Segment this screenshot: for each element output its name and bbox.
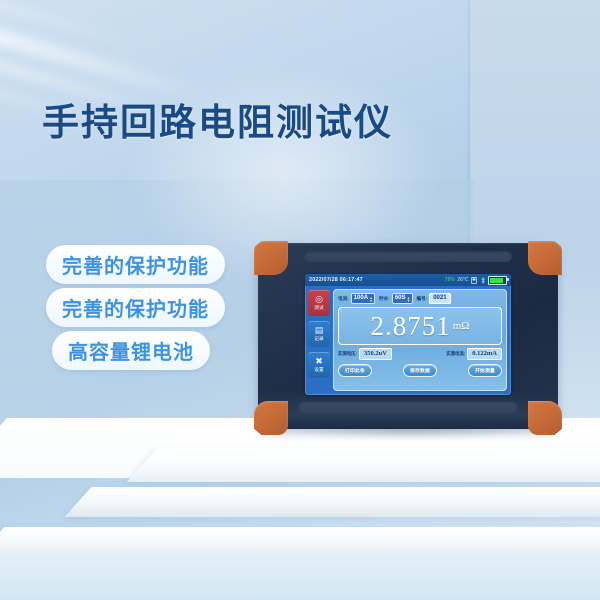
- temperature-icon: 26℃: [457, 277, 468, 283]
- clock-text: 2022/07/28 06:17:47: [309, 277, 363, 283]
- current-select[interactable]: 100A ▴▾: [351, 293, 375, 304]
- current-value: 100A: [354, 294, 368, 303]
- top-grille: [304, 251, 512, 262]
- sd-card-icon: [471, 277, 477, 284]
- reading-unit: mΩ: [453, 320, 470, 332]
- records-icon: ▤: [315, 326, 324, 335]
- chevron-updown-icon: ▴▾: [407, 296, 409, 302]
- sidebar-item-records[interactable]: ▤ 记录: [308, 321, 330, 347]
- corner-bumper-bottom-left: [254, 401, 288, 435]
- current-meas-label: 实测电流:: [446, 351, 465, 357]
- page-title: 手持回路电阻测试仪: [42, 92, 393, 146]
- voltage-label: 实测电压:: [338, 351, 357, 357]
- lcd-screen[interactable]: 2022/07/28 06:17:47 76% 26℃: [305, 274, 511, 395]
- serial-parameter: 编号: 0021: [417, 293, 451, 304]
- reading-value: 2.8751: [371, 313, 451, 340]
- lcd-content: ◎ 测试 ▤ 记录 ✖ 设置: [305, 286, 511, 395]
- voltage-value: 350.2uV: [359, 348, 392, 360]
- corner-bumper-top-left: [254, 241, 288, 275]
- save-data-button[interactable]: 保存数据: [403, 364, 437, 377]
- device: 2022/07/28 06:17:47 76% 26℃: [258, 243, 558, 436]
- current-label: 电流:: [338, 296, 349, 302]
- status-icons: 76% 26℃: [445, 276, 507, 285]
- measurement-row: 实测电压: 350.2uV 实测电流: 0.122mA: [338, 348, 502, 360]
- platform-floor: [0, 555, 600, 600]
- sidebar-item-label: 设置: [314, 367, 324, 373]
- current-parameter: 电流: 100A ▴▾: [338, 293, 375, 304]
- test-icon: ◎: [315, 295, 323, 304]
- feature-pill-1: 完善的保护功能: [46, 245, 225, 284]
- chevron-updown-icon: ▴▾: [370, 296, 372, 302]
- duration-select[interactable]: 60S ▴▾: [392, 293, 413, 304]
- duration-value: 60S: [395, 294, 406, 303]
- status-bar: 2022/07/28 06:17:47 76% 26℃: [305, 274, 511, 286]
- feature-pill-3: 高容量锂电池: [52, 331, 210, 370]
- battery-full-icon: [488, 276, 507, 285]
- measured-current: 实测电流: 0.122mA: [446, 348, 502, 360]
- bluetooth-icon: [480, 277, 486, 284]
- print-record-button[interactable]: 打印此条: [338, 364, 372, 377]
- platform-slab-middle: [64, 487, 600, 517]
- corner-bumper-bottom-right: [528, 401, 562, 435]
- lcd-button-row: 打印此条 保存数据 开始测量: [338, 364, 502, 377]
- corner-bumper-top-right: [528, 241, 562, 275]
- lcd-main-panel: 电流: 100A ▴▾ 时长: 60S ▴▾: [333, 289, 507, 391]
- sidebar-item-label: 测试: [314, 305, 324, 311]
- settings-icon: ✖: [315, 357, 323, 366]
- product-banner: 手持回路电阻测试仪 完善的保护功能 完善的保护功能 高容量锂电池 2022/07…: [0, 0, 600, 600]
- duration-label: 时长:: [379, 296, 390, 302]
- serial-label: 编号:: [417, 296, 428, 302]
- platform-slab-top: [127, 448, 600, 482]
- primary-reading: 2.8751 mΩ: [338, 307, 502, 345]
- lcd-sidebar: ◎ 测试 ▤ 记录 ✖ 设置: [305, 286, 331, 395]
- sidebar-item-label: 记录: [314, 336, 324, 342]
- device-body: 2022/07/28 06:17:47 76% 26℃: [258, 243, 558, 429]
- sidebar-item-settings[interactable]: ✖ 设置: [308, 352, 330, 378]
- parameter-row: 电流: 100A ▴▾ 时长: 60S ▴▾: [338, 293, 502, 304]
- measured-voltage: 实测电压: 350.2uV: [338, 348, 392, 360]
- current-meas-value: 0.122mA: [467, 348, 502, 360]
- serial-value[interactable]: 0021: [429, 293, 450, 304]
- duration-parameter: 时长: 60S ▴▾: [379, 293, 412, 304]
- bottom-grille: [298, 401, 518, 414]
- sidebar-item-test[interactable]: ◎ 测试: [308, 290, 330, 316]
- humidity-icon: 76%: [445, 277, 455, 283]
- start-measure-button[interactable]: 开始测量: [468, 364, 502, 377]
- feature-pill-2: 完善的保护功能: [46, 288, 225, 327]
